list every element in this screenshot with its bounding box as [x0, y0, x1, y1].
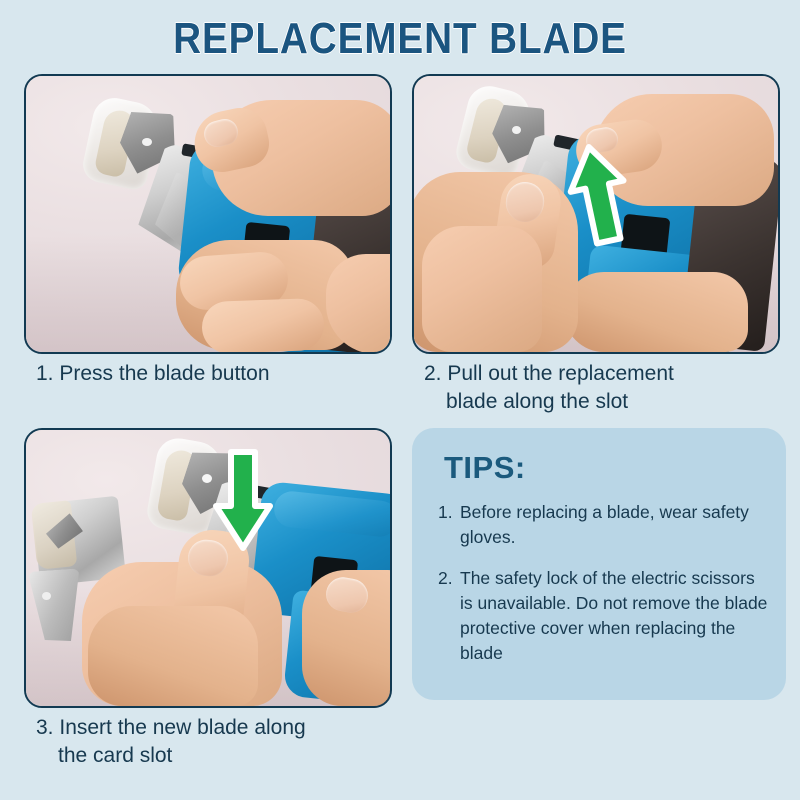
- step-3-number: 3.: [36, 716, 54, 739]
- down-arrow-green-icon: [208, 444, 278, 554]
- tips-heading: TIPS:: [444, 450, 526, 486]
- step-3-caption-line1: Insert the new blade along: [59, 716, 305, 739]
- tips-list: 1. Before replacing a blade, wear safety…: [438, 500, 768, 682]
- step-3-photo: [24, 428, 392, 708]
- step-2-photo: [412, 74, 780, 354]
- step-2-caption-line2: blade along the slot: [424, 388, 772, 416]
- right-lower-fingers: [564, 272, 748, 352]
- infographic-page: REPLACEMENT BLADE: [0, 0, 800, 800]
- blade-rivet: [512, 126, 521, 134]
- tip-1-number: 1.: [438, 500, 460, 550]
- step-1-caption-line1: Press the blade button: [59, 362, 269, 385]
- page-title: REPLACEMENT BLADE: [48, 14, 752, 64]
- step-2-number: 2.: [424, 362, 442, 385]
- left-fingers: [422, 226, 542, 352]
- step-1-number: 1.: [36, 362, 54, 385]
- left-lower-fingers: [88, 606, 258, 706]
- tip-2-number: 2.: [438, 566, 460, 666]
- blade-rivet: [142, 138, 152, 146]
- tip-item: 2. The safety lock of the electric sciss…: [438, 566, 768, 666]
- up-arrow-green-icon: [564, 140, 634, 250]
- spare-blade-hole: [42, 592, 51, 600]
- step-1-caption: 1. Press the blade button: [36, 360, 386, 388]
- finger-2: [201, 298, 325, 354]
- step-2-caption: 2. Pull out the replacement blade along …: [424, 360, 772, 416]
- tip-1-text: Before replacing a blade, wear safety gl…: [460, 500, 768, 550]
- step-3-caption: 3. Insert the new blade along the card s…: [36, 714, 386, 770]
- step-3-caption-line2: the card slot: [36, 742, 386, 770]
- tip-2-text: The safety lock of the electric scissors…: [460, 566, 768, 666]
- tip-item: 1. Before replacing a blade, wear safety…: [438, 500, 768, 550]
- tips-panel: TIPS: 1. Before replacing a blade, wear …: [412, 428, 786, 700]
- step-1-photo: [24, 74, 392, 354]
- step-2-caption-line1: Pull out the replacement: [447, 362, 673, 385]
